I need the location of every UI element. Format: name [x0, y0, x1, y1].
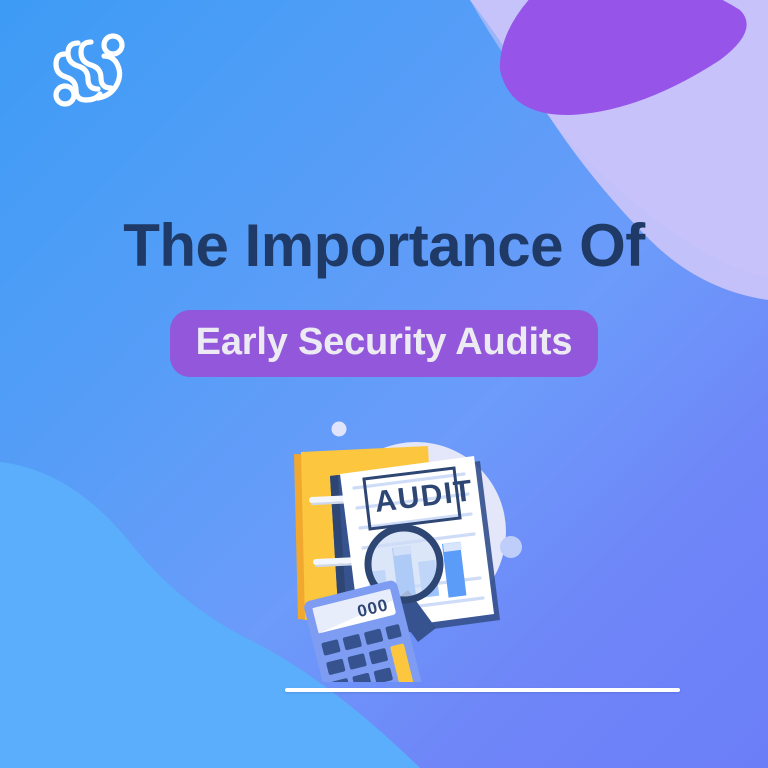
bottom-divider — [285, 688, 680, 692]
subtitle-badge-container: Early Security Audits — [0, 310, 768, 377]
network-nodes-icon — [48, 28, 132, 112]
decorative-dot-top — [332, 422, 347, 437]
poster-canvas: The Importance Of Early Security Audits — [0, 0, 768, 768]
page-title: The Importance Of — [0, 212, 768, 279]
decorative-dot-right — [500, 536, 522, 558]
subtitle-badge: Early Security Audits — [170, 310, 599, 377]
audit-illustration: AUDIT 000 — [268, 414, 530, 682]
brand-logo[interactable] — [48, 28, 132, 112]
